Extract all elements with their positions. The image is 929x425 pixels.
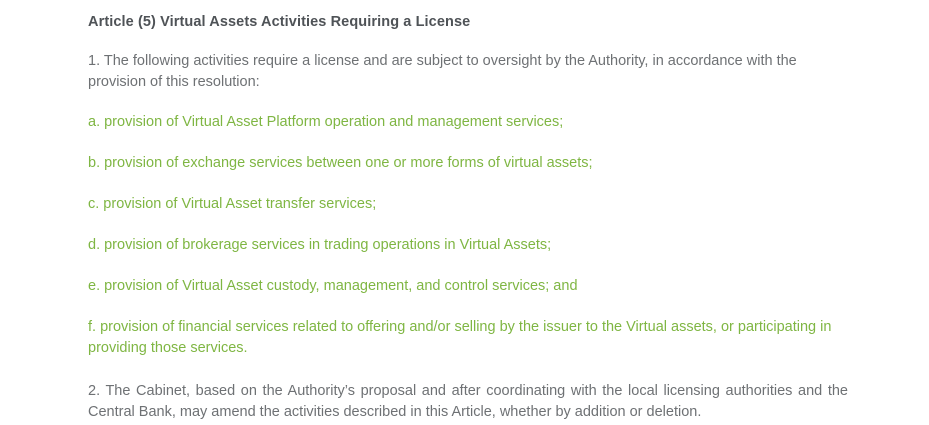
list-item: d. provision of brokerage services in tr… xyxy=(88,235,848,256)
closing-paragraph: 2. The Cabinet, based on the Authority’s… xyxy=(88,381,848,423)
list-item: f. provision of financial services relat… xyxy=(88,317,848,359)
list-item: e. provision of Virtual Asset custody, m… xyxy=(88,276,848,297)
list-item: b. provision of exchange services betwee… xyxy=(88,153,848,174)
intro-paragraph: 1. The following activities require a li… xyxy=(88,51,848,93)
document-body: Article (5) Virtual Assets Activities Re… xyxy=(0,0,929,425)
article-heading: Article (5) Virtual Assets Activities Re… xyxy=(88,12,848,33)
list-item: a. provision of Virtual Asset Platform o… xyxy=(88,112,848,133)
list-item: c. provision of Virtual Asset transfer s… xyxy=(88,194,848,215)
